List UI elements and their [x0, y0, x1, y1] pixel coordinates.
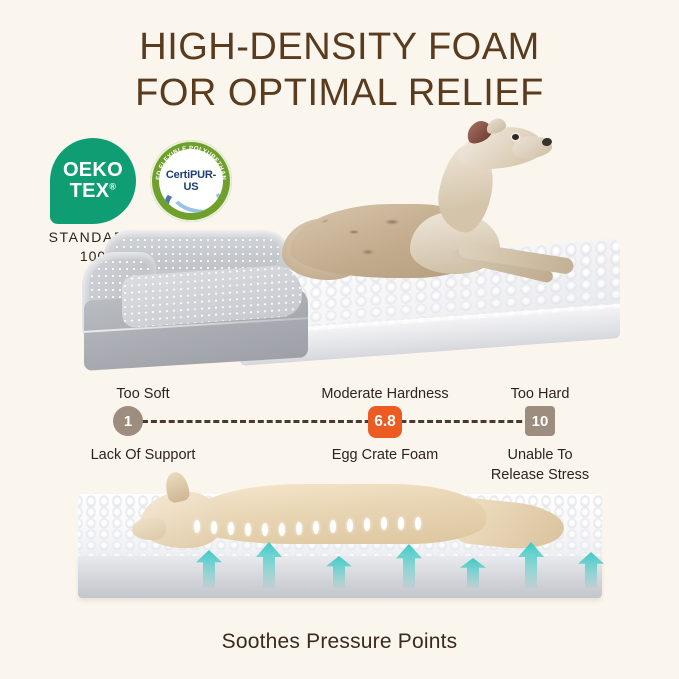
pressure-arrow-icon — [196, 550, 222, 588]
scale-marker-10: 10 — [525, 406, 555, 436]
scale-marker-1: 1 — [113, 406, 143, 436]
certipur-us-badge: CERTIFIED FLEXIBLE POLYURETHANE FOAM WWW… — [150, 140, 232, 222]
oeko-label-line1: OEKO — [63, 160, 123, 181]
pressure-arrow-icon — [518, 542, 544, 588]
bottom-caption: Soothes Pressure Points — [0, 630, 679, 654]
pressure-arrow-icon — [396, 544, 422, 588]
hardness-scale-track — [142, 420, 540, 423]
scale-right-bottom-line1: Unable To — [507, 447, 572, 463]
pressure-arrow-icon — [578, 552, 604, 588]
pressure-dot — [415, 517, 421, 530]
pressure-arrow-icon — [460, 558, 486, 588]
certipur-inner-disc: CertiPUR-US — [159, 149, 223, 213]
pressure-arrow-icon — [326, 556, 352, 588]
pressure-arrows — [78, 530, 602, 588]
scale-middle-top-label: Moderate Hardness — [321, 386, 448, 402]
grey-bolster-dog-bed — [82, 230, 312, 370]
infographic-page: HIGH-DENSITY FOAM FOR OPTIMAL RELIEF OEK… — [0, 0, 679, 679]
oeko-label-line2: TEX® — [70, 181, 117, 202]
pressure-dot — [381, 517, 387, 530]
pressure-relief-scene — [78, 472, 602, 612]
whippet-dog-photo — [290, 126, 560, 306]
hero-product-image — [62, 222, 622, 384]
scale-marker-6-8: 6.8 — [368, 406, 402, 438]
title-line-2: FOR OPTIMAL RELIEF — [0, 70, 679, 116]
certipur-name: CertiPUR-US — [159, 169, 223, 193]
page-title: HIGH-DENSITY FOAM FOR OPTIMAL RELIEF — [0, 24, 679, 117]
pressure-dot — [398, 517, 404, 530]
pressure-arrow-icon — [256, 542, 282, 588]
oeko-tex-badge: OEKO TEX® — [50, 138, 136, 224]
title-line-1: HIGH-DENSITY FOAM — [139, 26, 540, 68]
scale-right-top-label: Too Hard — [511, 386, 570, 402]
scale-left-top-label: Too Soft — [116, 386, 169, 402]
dog-eye — [512, 134, 519, 140]
